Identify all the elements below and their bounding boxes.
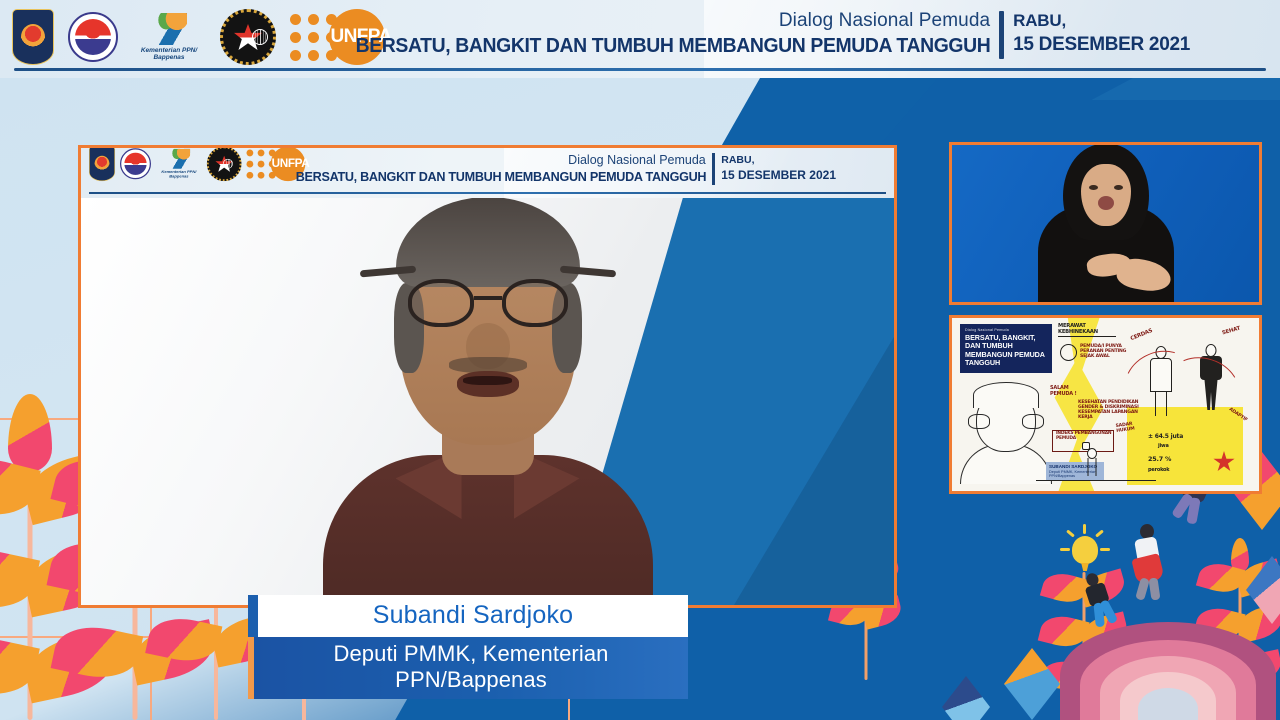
graphic-title-kicker: Dialog Nasional Pemuda bbox=[965, 328, 1047, 333]
webinar-stream-stage: Kementerian PPN/ Bappenas UNFPA Dialog N… bbox=[0, 0, 1280, 720]
header-underline bbox=[14, 68, 1266, 71]
graphic-recording-canvas: Dialog Nasional Pemuda BERSATU, BANGKIT,… bbox=[952, 318, 1259, 491]
lightbulb-icon bbox=[1072, 536, 1098, 571]
event-header-bar: Kementerian PPN/ Bappenas UNFPA Dialog N… bbox=[0, 0, 1280, 78]
kemendagri-shield-logo bbox=[12, 9, 54, 65]
figure-person-a bbox=[1124, 524, 1170, 596]
ground-line bbox=[1036, 480, 1156, 481]
stat-smoking-unit: perokok bbox=[1148, 468, 1169, 474]
kemenpora-logo bbox=[68, 12, 118, 62]
stat-population-value: ± 64.5 juta bbox=[1148, 434, 1183, 441]
note-salam: SALAM PEMUDA ! bbox=[1050, 386, 1086, 397]
graphic-figure-raised-fist bbox=[1080, 442, 1104, 488]
event-title-line1: Dialog Nasional Pemuda bbox=[336, 9, 990, 33]
clock-icon bbox=[1060, 344, 1077, 361]
kemenpora-logo-small bbox=[120, 148, 151, 179]
note-kesehatan: KESEHATAN PENDIDIKAN GENDER & DISKRIMINA… bbox=[1078, 400, 1140, 421]
title-divider bbox=[999, 11, 1004, 59]
speaker-role: Deputi PMMK, Kementerian PPN/Bappenas bbox=[254, 637, 688, 699]
note-indeks: INDEKS PEMBANGUNAN PEMUDA bbox=[1056, 432, 1114, 442]
bappenas-logo-small: Kementerian PPN/ Bappenas bbox=[156, 149, 202, 179]
speaker-person bbox=[308, 205, 668, 605]
nameplate-accent-bar bbox=[248, 595, 258, 637]
stat-smoking-value: 25.7 % bbox=[1148, 456, 1171, 463]
organizer-logo-strip: Kementerian PPN/ Bappenas UNFPA bbox=[12, 7, 385, 67]
graphic-speaker-portrait bbox=[958, 380, 1054, 484]
shared-title-line2: BERSATU, BANGKIT DAN TUMBUH MEMBANGUN PE… bbox=[295, 168, 706, 185]
event-day-label: RABU, bbox=[1013, 9, 1190, 32]
callout-sehat: SEHAT bbox=[1222, 326, 1241, 337]
yellow-stat-block bbox=[1127, 407, 1243, 485]
shared-screen-header: Kementerian PPN/ Bappenas UNFPA Dialog N… bbox=[81, 148, 894, 198]
shared-date-label: 15 DESEMBER 2021 bbox=[721, 167, 836, 183]
stat-population-unit: jiwa bbox=[1158, 444, 1169, 450]
graphic-title-block: Dialog Nasional Pemuda BERSATU, BANGKIT,… bbox=[960, 324, 1052, 373]
graphic-recording-tile[interactable]: Dialog Nasional Pemuda BERSATU, BANGKIT,… bbox=[949, 315, 1262, 494]
event-date-label: 15 DESEMBER 2021 bbox=[1013, 32, 1190, 57]
event-title-line2: BERSATU, BANGKIT DAN TUMBUH MEMBANGUN PE… bbox=[355, 33, 990, 59]
note-merawat: MERAWAT KEBHINEKAAN bbox=[1058, 324, 1118, 336]
shared-title-line1: Dialog Nasional Pemuda bbox=[283, 153, 706, 168]
speaker-name: Subandi Sardjoko bbox=[258, 595, 688, 637]
interpreter-person bbox=[1031, 152, 1181, 302]
note-pemuda: PEMUDA/I PUNYA PERANAN PENTING SEJAK AWA… bbox=[1080, 344, 1128, 359]
graphic-title-main: BERSATU, BANGKIT, DAN TUMBUH MEMBANGUN P… bbox=[965, 334, 1047, 368]
shared-screen-logo-strip: Kementerian PPN/ Bappenas UNFPA bbox=[89, 152, 305, 176]
lower-third-nameplate: Subandi Sardjoko Deputi PMMK, Kementeria… bbox=[248, 595, 688, 699]
bappenas-logo-text-small: Kementerian PPN/ Bappenas bbox=[156, 170, 202, 179]
event-title-block: Dialog Nasional Pemuda BERSATU, BANGKIT … bbox=[336, 9, 1190, 59]
bappenas-mark-icon bbox=[151, 13, 187, 45]
shared-day-label: RABU, bbox=[721, 153, 836, 167]
speaker-video-canvas bbox=[81, 198, 894, 605]
shared-screen-title-block: Dialog Nasional Pemuda BERSATU, BANGKIT … bbox=[283, 153, 836, 185]
main-speaker-video-frame[interactable]: Kementerian PPN/ Bappenas UNFPA Dialog N… bbox=[78, 145, 897, 608]
bappenas-logo: Kementerian PPN/ Bappenas bbox=[132, 13, 206, 62]
callout-cerdas: CERDAS bbox=[1130, 328, 1154, 342]
bappenas-logo-text: Kementerian PPN/ Bappenas bbox=[132, 47, 206, 62]
sign-language-interpreter-tile[interactable] bbox=[949, 142, 1262, 305]
un-globe-icon bbox=[252, 29, 268, 45]
speaker-glasses bbox=[408, 279, 568, 327]
kemendagri-shield-logo-small bbox=[89, 148, 115, 181]
